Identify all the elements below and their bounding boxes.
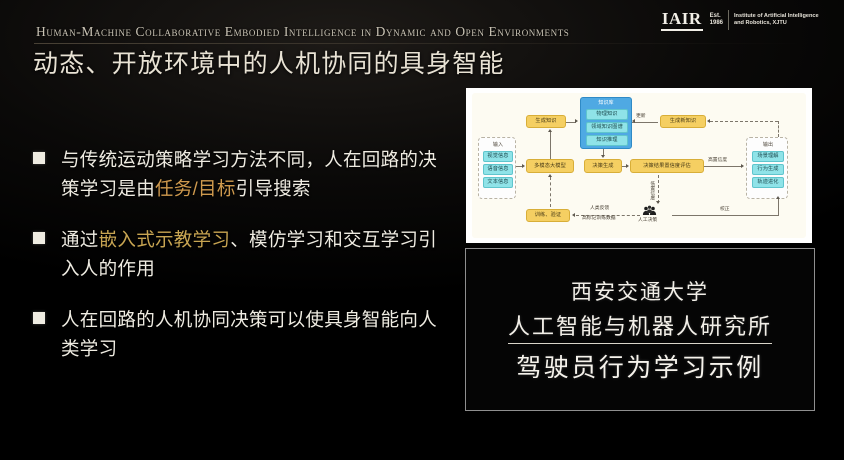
- diagram-node-generate-knowledge: 生成知识: [526, 115, 566, 128]
- bullet-2-highlight: 嵌入式示教学习: [99, 229, 231, 250]
- slide-kicker: Human-Machine Collaborative Embodied Int…: [36, 24, 569, 40]
- edge-label-labeled-data: 高标记训练数据: [582, 216, 616, 222]
- diagram-node-decision-generation: 决策生成: [584, 159, 622, 173]
- diagram-output-group: 输出 场景理解 行为生成 轨迹进化: [746, 137, 788, 199]
- bullet-1-part-2: 引导搜索: [236, 178, 311, 199]
- diagram-node-generate-new-knowledge: 生成新知识: [660, 115, 706, 128]
- diagram-knowledge-title: 知识库: [581, 100, 631, 106]
- diagram-image-panel: 输入 视觉信息 语音信息 文本信息 多模态大模型 生成知识 知识库 物理知识 领…: [466, 88, 812, 243]
- diagram-input-item-0: 视觉信息: [483, 151, 513, 162]
- logo-est-label: Est.: [708, 13, 723, 21]
- square-bullet-icon: [33, 232, 45, 244]
- edge-label-correction: 校正: [720, 207, 730, 213]
- diagram-input-item-1: 语音信息: [483, 164, 513, 175]
- arrowhead: [601, 155, 605, 158]
- bullet-text-2: 通过嵌入式示教学习、模仿学习和交互学习引入人的作用: [61, 225, 450, 283]
- list-item: 人在回路的人机协同决策可以使具身智能向人类学习: [30, 305, 450, 363]
- list-item: 与传统运动策略学习方法不同，人在回路的决策学习是由任务/目标引导搜索: [30, 145, 450, 203]
- edge-human-to-output-h: [672, 215, 778, 216]
- diagram-input-title: 输入: [479, 141, 517, 149]
- caption-panel: 西安交通大学 人工智能与机器人研究所 驾驶员行为学习示例: [465, 248, 815, 411]
- diagram-node-decision-evaluation: 决策结果置信度评估: [630, 159, 704, 173]
- people-group-icon: [642, 205, 658, 216]
- list-item: 通过嵌入式示教学习、模仿学习和交互学习引入人的作用: [30, 225, 450, 283]
- bullet-text-1: 与传统运动策略学习方法不同，人在回路的决策学习是由任务/目标引导搜索: [61, 145, 450, 203]
- diagram-knowledge-base: 知识库 物理知识 领域知识图谱 知识推理: [580, 97, 632, 149]
- caption-demo-title: 驾驶员行为学习示例: [516, 348, 764, 384]
- logo-institute-text: Institute of Artificial Intelligence and…: [734, 13, 826, 27]
- diagram-canvas: 输入 视觉信息 语音信息 文本信息 多模态大模型 生成知识 知识库 物理知识 领…: [472, 93, 806, 238]
- bullet-2-part-0: 通过: [61, 229, 99, 250]
- square-bullet-icon: [33, 312, 45, 324]
- arrowhead: [548, 129, 552, 132]
- arrowhead: [741, 164, 744, 168]
- arrowhead: [707, 119, 710, 123]
- bullet-text-3: 人在回路的人机协同决策可以使具身智能向人类学习: [61, 305, 450, 363]
- arrowhead: [632, 119, 635, 123]
- diagram-input-item-2: 文本信息: [483, 177, 513, 188]
- edge-eval-to-output: [704, 166, 742, 167]
- edge-human-to-output-v: [778, 199, 779, 216]
- bullet-3-part-0: 人在回路的人机协同决策可以使具身智能向人类学习: [61, 309, 437, 359]
- page-title: 动态、开放环境中的人机协同的具身智能: [33, 44, 505, 80]
- arrowhead: [575, 119, 578, 123]
- diagram-node-human-decision: 人工决策: [638, 218, 657, 224]
- arrowhead: [656, 201, 660, 204]
- arrowhead: [548, 174, 552, 177]
- logo-est-block: Est. 1986: [708, 13, 723, 28]
- edge-output-to-newknowledge-v: [778, 121, 779, 137]
- edge-train-to-model: [550, 177, 551, 207]
- edge-label-low-confidence: 低置信度: [648, 181, 654, 200]
- diagram-output-title: 输出: [747, 141, 789, 149]
- arrowhead: [626, 164, 629, 168]
- diagram-output-item-0: 场景理解: [752, 151, 784, 162]
- caption-university: 西安交通大学: [571, 276, 709, 306]
- iair-logo: IAIR Est. 1986 Institute of Artificial I…: [661, 7, 826, 33]
- edge-output-to-newknowledge-h: [710, 121, 778, 122]
- bullet-list: 与传统运动策略学习方法不同，人在回路的决策学习是由任务/目标引导搜索 通过嵌入式…: [30, 145, 450, 385]
- logo-est-year: 1986: [708, 20, 723, 28]
- arrowhead: [572, 213, 575, 217]
- square-bullet-icon: [33, 152, 45, 164]
- slide-canvas: Human-Machine Collaborative Embodied Int…: [0, 0, 844, 460]
- diagram-node-multimodal-model: 多模态大模型: [526, 159, 574, 173]
- caption-institute: 人工智能与机器人研究所: [508, 309, 772, 344]
- diagram-knowledge-item-1: 领域知识图谱: [586, 122, 628, 133]
- edge-label-human-feedback: 人类反馈: [590, 206, 609, 212]
- diagram-knowledge-item-2: 知识推理: [586, 135, 628, 146]
- arrowhead: [522, 164, 525, 168]
- edge-label-update: 更新: [636, 114, 646, 120]
- edge-kb-to-newknowledge: [632, 122, 658, 123]
- logo-wordmark: IAIR: [661, 10, 703, 31]
- diagram-node-train-verify: 训练、验证: [526, 209, 570, 222]
- edge-eval-to-human: [658, 175, 659, 203]
- diagram-output-item-1: 行为生成: [752, 164, 784, 175]
- logo-divider: [728, 10, 729, 30]
- diagram-knowledge-item-0: 物理知识: [586, 109, 628, 120]
- bullet-1-highlight: 任务/目标: [155, 178, 236, 199]
- edge-label-high-confidence: 高置信度: [708, 158, 727, 164]
- diagram-input-group: 输入 视觉信息 语音信息 文本信息: [478, 137, 516, 199]
- diagram-output-item-2: 轨迹进化: [752, 177, 784, 188]
- edge-model-to-genknowledge: [550, 132, 551, 159]
- arrowhead: [776, 196, 780, 199]
